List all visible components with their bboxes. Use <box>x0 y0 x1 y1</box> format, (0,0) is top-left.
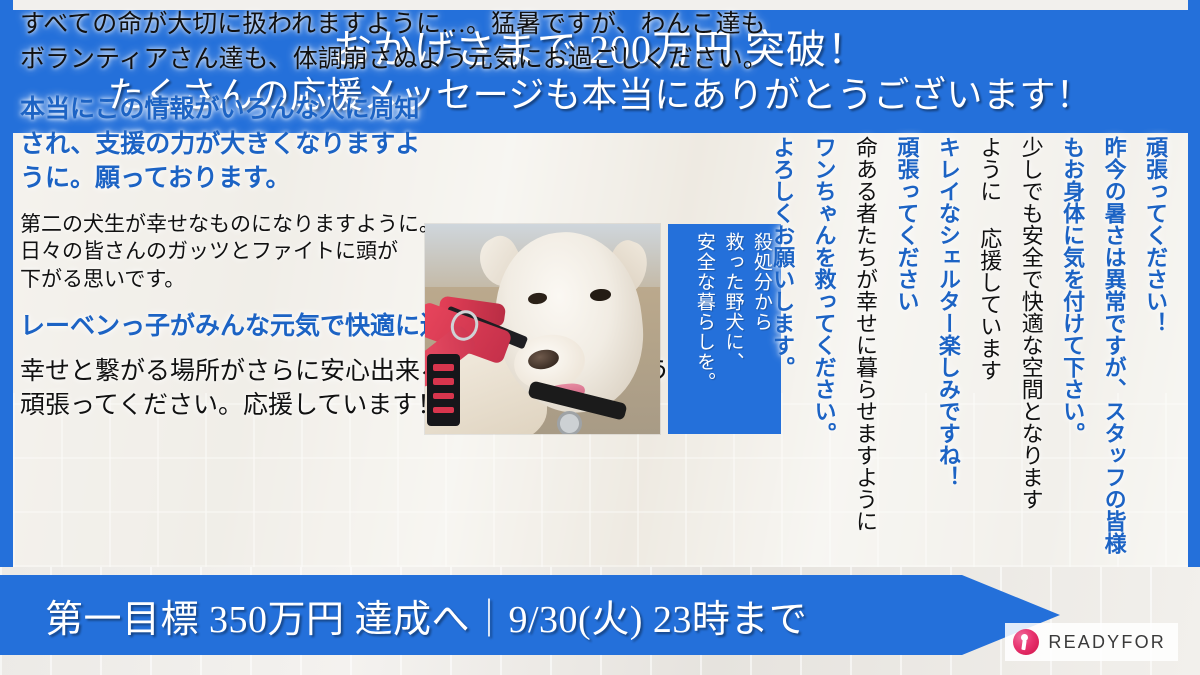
spacer <box>20 199 790 211</box>
vertical-message: 頑張ってください！ <box>1135 136 1176 334</box>
message-line: され、支援の力が大きくなりますよ <box>20 128 790 163</box>
message-line: 本当にこの情報がいろんな人に周知 <box>20 93 790 128</box>
vertical-message: ワンちゃんを救ってください。 <box>803 136 844 444</box>
photo-harness-buckle <box>427 354 460 425</box>
spacer <box>20 79 790 93</box>
readyfor-r-mark-icon <box>1013 629 1039 655</box>
message-block-1: すべての命が大切に扱われますように…。猛暑ですが、わんこ達も ボランティアさん達… <box>20 8 790 77</box>
vertical-message: ように 応援しています <box>969 136 1010 381</box>
vertical-message: よろしくお願いします。 <box>762 136 803 378</box>
goal-label: 第一目標 350万円 達成へ｜9/30(火) 23時まで <box>0 588 807 643</box>
vertical-message: 頑張ってください <box>886 136 927 312</box>
vertical-message: もお身体に気を付けて下さい。 <box>1052 136 1093 444</box>
caption-column: 安全な暮らしを。 <box>690 232 718 392</box>
goal-arrow-banner: 第一目標 350万円 達成へ｜9/30(火) 23時まで <box>0 575 1060 655</box>
readyfor-logo: READYFOR <box>1005 623 1178 661</box>
message-line: すべての命が大切に扱われますように…。猛暑ですが、わんこ達も <box>20 8 790 43</box>
rescued-dog-photo <box>425 224 660 434</box>
caption-column: 救った野犬に、 <box>719 232 747 372</box>
campaign-banner-image: おかげさまで 200万円 突破！ たくさんの応援メッセージも本当にありがとうござ… <box>0 0 1200 675</box>
supporter-messages-vertical: 頑張ってください！ 昨今の暑さは異常ですが、スタッフの皆様 もお身体に気を付けて… <box>776 136 1176 566</box>
bottom-banner: 第一目標 350万円 達成へ｜9/30(火) 23時まで READYFOR <box>0 567 1200 675</box>
message-line: ボランティアさん達も、体調崩さぬよう元気にお過ごしください。 <box>20 43 790 78</box>
vertical-message: 少しでも安全で快適な空間となります <box>1010 136 1051 510</box>
vertical-message: 命ある者たちが幸せに暮らせますように <box>845 136 886 532</box>
readyfor-logo-text: READYFOR <box>1048 632 1166 653</box>
message-line: うに。願っております。 <box>20 162 790 197</box>
vertical-message: 昨今の暑さは異常ですが、スタッフの皆様 <box>1093 136 1134 554</box>
vertical-message: キレイなシェルター楽しみですね！ <box>927 136 968 488</box>
message-block-2: 本当にこの情報がいろんな人に周知 され、支援の力が大きくなりますよ うに。願って… <box>20 93 790 197</box>
